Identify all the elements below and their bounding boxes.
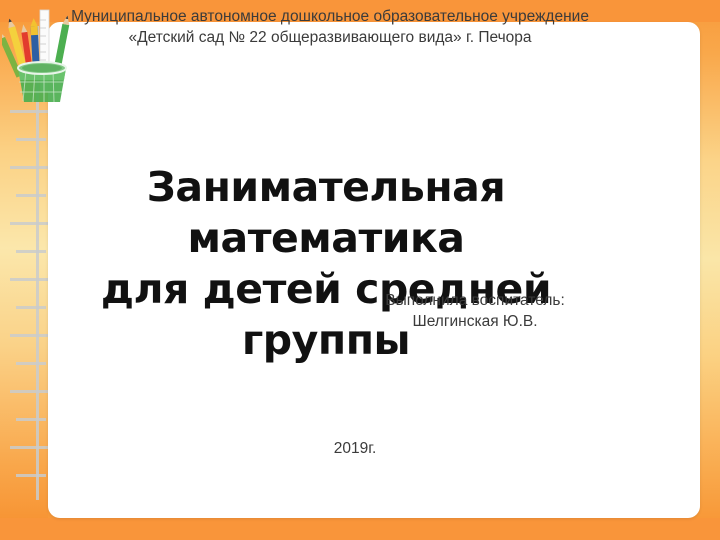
page-title: Занимательная математика для детей средн… [10, 162, 642, 366]
author-name: Шелгинская Ю.В. [330, 311, 620, 332]
author-role-label: Выполнила воспитатель: [330, 290, 620, 311]
organization-line-1: Муниципальное автономное дошкольное обра… [60, 6, 600, 27]
ruler-tick [10, 110, 48, 113]
organization-header: Муниципальное автономное дошкольное обра… [60, 6, 600, 48]
organization-line-2: «Детский сад № 22 общеразвивающего вида»… [60, 27, 600, 48]
author-block: Выполнила воспитатель: Шелгинская Ю.В. [330, 290, 620, 332]
bottom-orange-band [0, 518, 720, 540]
title-line-1: Занимательная математика [10, 162, 642, 264]
ruler-tick [16, 138, 46, 141]
ruler-tick [16, 474, 46, 477]
ruler-tick [16, 418, 46, 421]
presentation-slide: Муниципальное автономное дошкольное обра… [0, 0, 720, 540]
ruler-tick [10, 446, 48, 449]
year-label: 2019г. [210, 440, 500, 458]
ruler-tick [10, 390, 48, 393]
